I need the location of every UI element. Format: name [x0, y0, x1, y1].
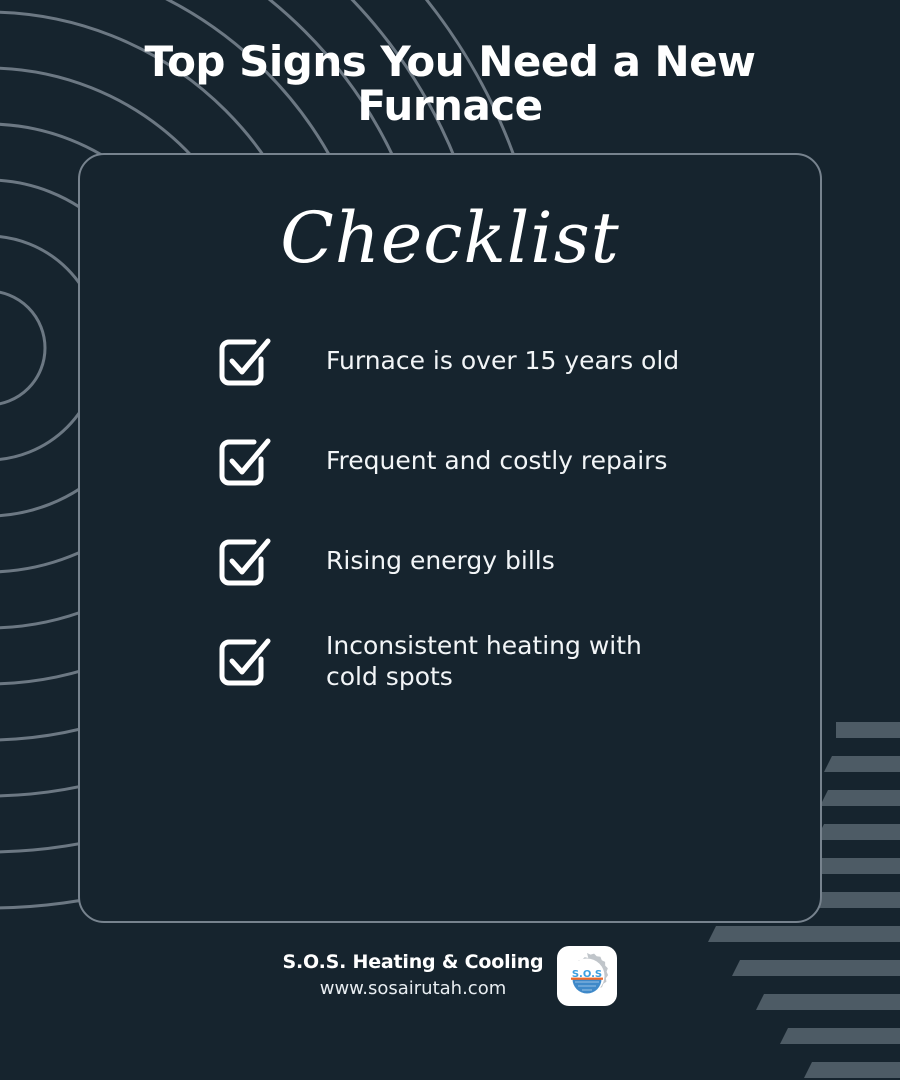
- logo-wordmark: S.O.S: [572, 969, 602, 980]
- list-item-label: Furnace is over 15 years old: [326, 345, 679, 376]
- checkbox-checked-icon[interactable]: [216, 332, 274, 390]
- title-line-2: Furnace: [100, 84, 800, 128]
- checkbox-checked-icon[interactable]: [216, 532, 274, 590]
- checkbox-checked-icon[interactable]: [216, 432, 274, 490]
- footer-text: S.O.S. Heating & Cooling www.sosairutah.…: [283, 950, 544, 1002]
- sos-heating-cooling-logo[interactable]: S.O.S: [557, 946, 617, 1006]
- list-item-label: Inconsistent heating with cold spots: [326, 630, 686, 693]
- list-item[interactable]: Frequent and costly repairs: [80, 411, 820, 511]
- list-item[interactable]: Rising energy bills: [80, 511, 820, 611]
- list-item-label: Frequent and costly repairs: [326, 445, 667, 476]
- checklist-card: Checklist Furnace is over 15 years old: [78, 153, 822, 923]
- footer: S.O.S. Heating & Cooling www.sosairutah.…: [0, 946, 900, 1006]
- brand-name: S.O.S. Heating & Cooling: [283, 950, 544, 975]
- list-item[interactable]: Furnace is over 15 years old: [80, 311, 820, 411]
- checkbox-checked-icon[interactable]: [216, 632, 274, 690]
- checklist: Furnace is over 15 years old Frequent an…: [80, 273, 820, 711]
- website-url[interactable]: www.sosairutah.com: [283, 975, 544, 1002]
- poster: Top Signs You Need a New Furnace Checkli…: [0, 0, 900, 1080]
- list-item[interactable]: Inconsistent heating with cold spots: [80, 611, 820, 711]
- page-title: Top Signs You Need a New Furnace: [100, 40, 800, 128]
- list-item-label: Rising energy bills: [326, 545, 555, 576]
- title-line-1: Top Signs You Need a New: [100, 40, 800, 84]
- checklist-heading: Checklist: [80, 203, 820, 273]
